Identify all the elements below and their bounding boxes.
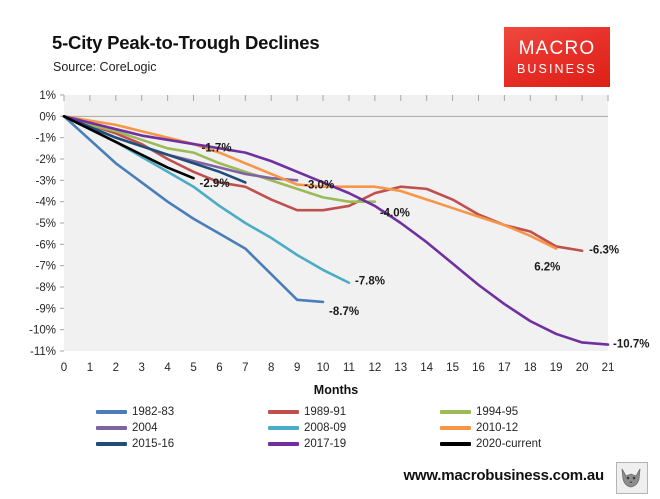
x-tick-label: 17: [498, 362, 511, 374]
data-label-63: -6.3%: [589, 245, 619, 257]
x-tick-label: 6: [216, 362, 222, 374]
x-tick-label: 18: [524, 362, 537, 374]
legend-label: 2010-12: [476, 422, 518, 434]
website-url: www.macrobusiness.com.au: [403, 467, 604, 484]
x-tick-label: 11: [343, 362, 355, 374]
legend-item-1982-83[interactable]: 1982-83: [96, 404, 268, 420]
legend-label: 2017-19: [304, 438, 346, 450]
y-tick-label: -5%: [36, 218, 56, 230]
x-tick-label: 0: [61, 362, 67, 374]
y-tick-label: -7%: [36, 261, 56, 273]
data-label-17: -1.7%: [202, 143, 232, 155]
legend-swatch-icon: [96, 410, 127, 413]
x-tick-label: 7: [242, 362, 248, 374]
x-tick-label: 20: [576, 362, 589, 374]
x-tick-label: 5: [190, 362, 196, 374]
legend-swatch-icon: [440, 410, 471, 413]
legend-swatch-icon: [440, 442, 471, 445]
legend-label: 2008-09: [304, 422, 346, 434]
x-tick-label: 9: [294, 362, 300, 374]
y-tick-label: 0%: [39, 111, 56, 123]
y-tick-label: -6%: [36, 239, 56, 251]
legend-swatch-icon: [440, 426, 471, 429]
x-tick-label: 16: [472, 362, 485, 374]
x-tick-label: 1: [87, 362, 93, 374]
chart-legend: 1982-831989-911994-9520042008-092010-122…: [96, 404, 616, 452]
legend-item-2008-09[interactable]: 2008-09: [268, 420, 440, 436]
legend-swatch-icon: [268, 426, 299, 429]
legend-item-1994-95[interactable]: 1994-95: [440, 404, 616, 420]
x-tick-label: 8: [268, 362, 274, 374]
data-label-107: -10.7%: [613, 339, 649, 351]
fox-head-glyph: [617, 463, 645, 491]
legend-label: 2015-16: [132, 438, 174, 450]
x-tick-label: 4: [164, 362, 171, 374]
legend-label: 2020-current: [476, 438, 541, 450]
y-tick-label: -1%: [36, 133, 56, 145]
legend-swatch-icon: [96, 426, 127, 429]
y-tick-label: 1%: [39, 90, 56, 102]
x-tick-label: 14: [420, 362, 433, 374]
y-tick-label: -3%: [36, 175, 56, 187]
x-tick-label: 10: [317, 362, 330, 374]
fox-head-icon: [616, 462, 648, 494]
y-tick-label: -10%: [29, 325, 56, 337]
chart-footer: www.macrobusiness.com.au: [0, 462, 660, 499]
legend-item-2017-19[interactable]: 2017-19: [268, 436, 440, 452]
data-label-29: -2.9%: [200, 178, 230, 190]
y-tick-label: -8%: [36, 282, 56, 294]
data-label-87: -8.7%: [329, 306, 359, 318]
x-tick-label: 13: [394, 362, 407, 374]
x-axis-labels: 0123456789101112131415161718192021: [61, 362, 615, 374]
x-tick-label: 15: [446, 362, 459, 374]
y-tick-label: -11%: [30, 346, 56, 358]
x-tick-label: 2: [113, 362, 119, 374]
legend-item-2004[interactable]: 2004: [96, 420, 268, 436]
legend-label: 1982-83: [132, 406, 174, 418]
y-axis-labels: 1%0%-1%-2%-3%-4%-5%-6%-7%-8%-9%-10%-11%: [29, 90, 56, 358]
x-axis-title: Months: [314, 383, 358, 397]
legend-item-1989-91[interactable]: 1989-91: [268, 404, 440, 420]
legend-item-2015-16[interactable]: 2015-16: [96, 436, 268, 452]
data-label-40: -4.0%: [380, 208, 410, 220]
y-tick-label: -2%: [36, 154, 56, 166]
x-tick-label: 3: [139, 362, 145, 374]
data-label-30: -3.0%: [304, 179, 334, 191]
legend-item-2020-current[interactable]: 2020-current: [440, 436, 616, 452]
legend-label: 2004: [132, 422, 158, 434]
legend-swatch-icon: [268, 410, 299, 413]
data-label-62: 6.2%: [534, 262, 560, 274]
legend-label: 1994-95: [476, 406, 518, 418]
data-label-78: -7.8%: [355, 276, 385, 288]
y-axis-ticks: [60, 95, 64, 351]
legend-swatch-icon: [96, 442, 127, 445]
x-tick-label: 19: [550, 362, 563, 374]
legend-label: 1989-91: [304, 406, 346, 418]
x-tick-label: 12: [368, 362, 381, 374]
x-tick-label: 21: [602, 362, 615, 374]
legend-swatch-icon: [268, 442, 299, 445]
y-tick-label: -4%: [36, 197, 56, 209]
legend-item-2010-12[interactable]: 2010-12: [440, 420, 616, 436]
y-tick-label: -9%: [36, 303, 56, 315]
